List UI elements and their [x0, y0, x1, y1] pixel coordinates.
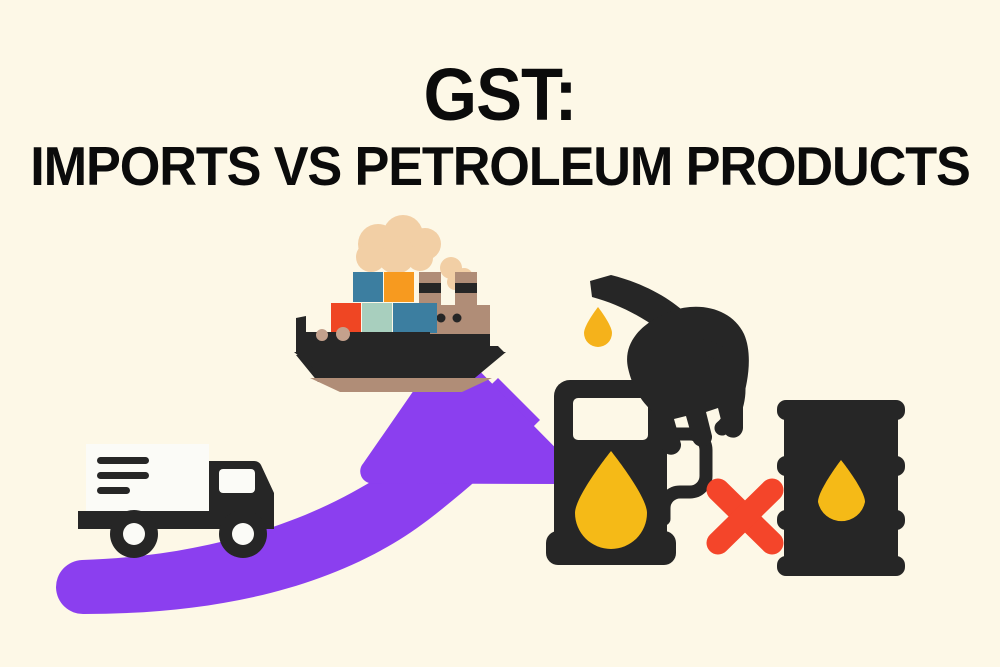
fuel-pump-display — [573, 398, 648, 440]
truck-cargo-box — [86, 444, 209, 519]
ship-hull-bottom — [310, 378, 492, 392]
falling-oil-drop — [584, 307, 612, 347]
oil-barrel-icon — [777, 400, 905, 576]
illustration-svg — [0, 0, 1000, 667]
poster-canvas: GST: IMPORTS VS PETROLEUM PRODUCTS — [0, 0, 1000, 667]
red-cross-icon — [718, 490, 772, 543]
illustration-area — [0, 0, 1000, 667]
delivery-truck-icon — [78, 444, 274, 558]
truck-wheel-rear — [110, 510, 158, 558]
truck-wheel-front — [219, 510, 267, 558]
truck-window — [219, 469, 255, 493]
ship-hull — [294, 352, 506, 382]
cargo-ship-icon — [294, 215, 506, 392]
